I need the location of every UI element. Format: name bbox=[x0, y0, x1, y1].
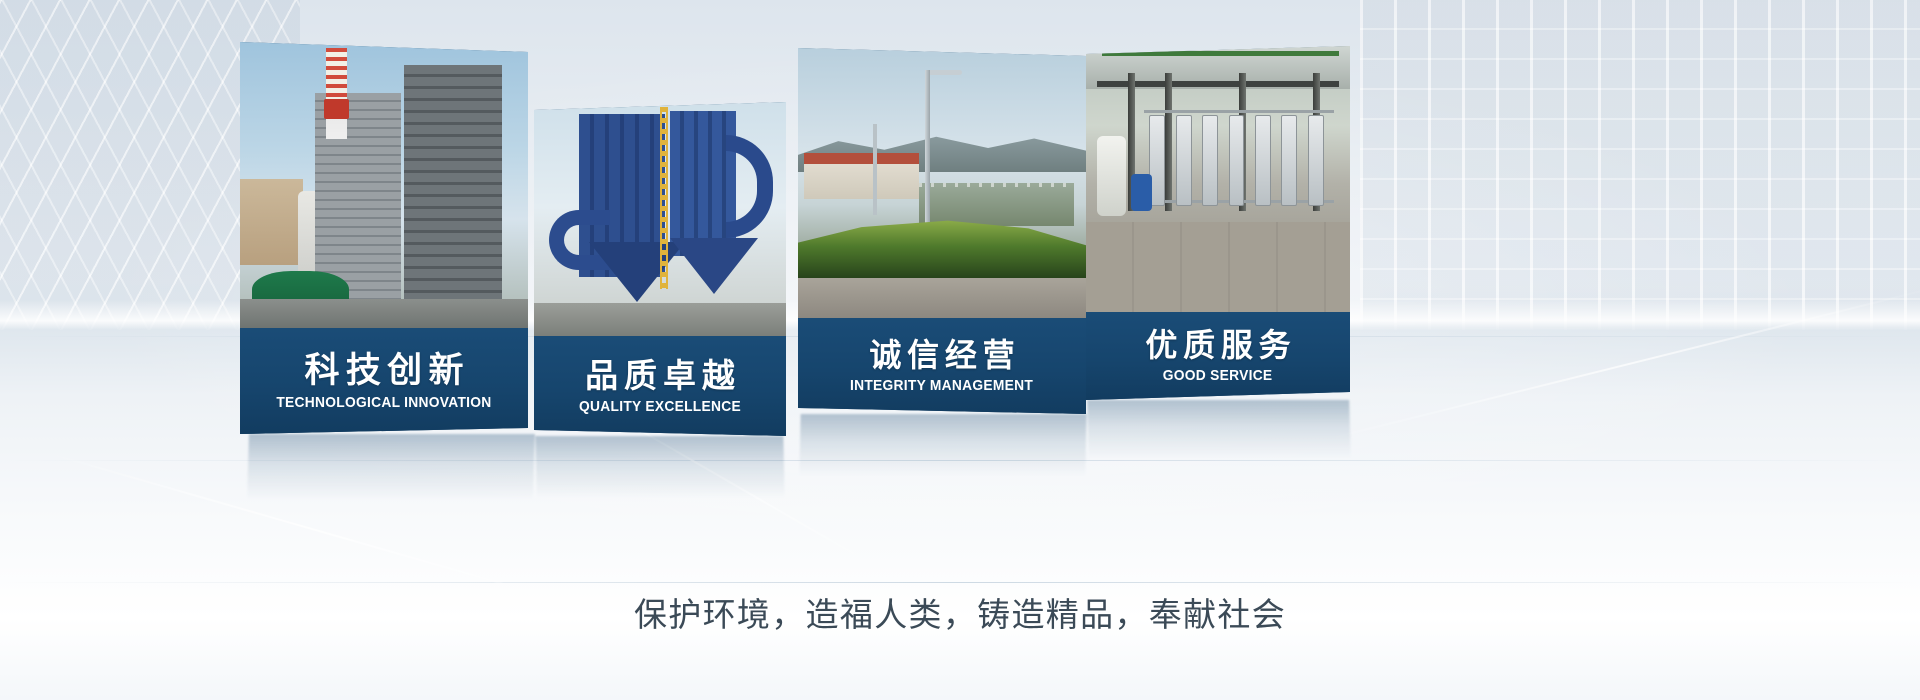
card-band-integrity-management: 诚信经营 INTEGRITY MANAGEMENT bbox=[798, 318, 1086, 414]
card-band-good-service: 优质服务 GOOD SERVICE bbox=[1086, 312, 1350, 400]
feature-card-technological-innovation[interactable]: 科技创新 TECHNOLOGICAL INNOVATION bbox=[240, 42, 528, 434]
card-photo-technological-innovation bbox=[240, 42, 528, 328]
card-title-en: TECHNOLOGICAL INNOVATION bbox=[276, 395, 491, 410]
card-band-quality-excellence: 品质卓越 QUALITY EXCELLENCE bbox=[534, 336, 786, 436]
card-title-en: INTEGRITY MANAGEMENT bbox=[850, 378, 1033, 393]
feature-card-quality-excellence[interactable]: 品质卓越 QUALITY EXCELLENCE bbox=[534, 102, 786, 436]
card-title-cn: 品质卓越 bbox=[579, 359, 741, 392]
card-title-cn: 优质服务 bbox=[1140, 329, 1297, 361]
card-title-en: GOOD SERVICE bbox=[1163, 368, 1273, 383]
banner-tagline: 保护环境，造福人类，铸造精品，奉献社会 bbox=[0, 588, 1920, 636]
card-title-cn: 诚信经营 bbox=[864, 339, 1021, 371]
card-title-en: QUALITY EXCELLENCE bbox=[579, 399, 741, 414]
card-title-cn: 科技创新 bbox=[298, 353, 470, 388]
feature-card-good-service[interactable]: 优质服务 GOOD SERVICE bbox=[1086, 46, 1350, 400]
card-band-technological-innovation: 科技创新 TECHNOLOGICAL INNOVATION bbox=[240, 328, 528, 434]
card-photo-quality-excellence bbox=[534, 102, 786, 336]
feature-card-integrity-management[interactable]: 诚信经营 INTEGRITY MANAGEMENT bbox=[798, 48, 1086, 414]
card-photo-integrity-management bbox=[798, 48, 1086, 318]
card-photo-good-service bbox=[1086, 46, 1350, 312]
hero-banner: 科技创新 TECHNOLOGICAL INNOVATION bbox=[0, 0, 1920, 700]
